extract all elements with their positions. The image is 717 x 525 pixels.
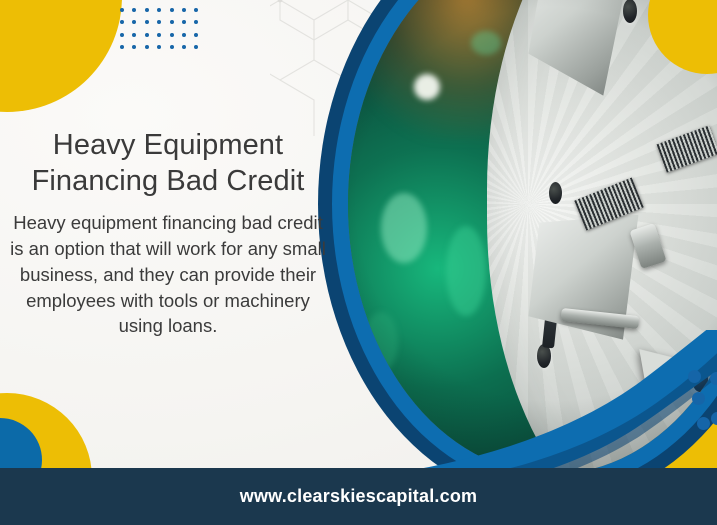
photo-medallion (318, 0, 717, 504)
edge-dot (697, 417, 710, 430)
machinery-photo (348, 0, 717, 474)
title-line-2: Financing Bad Credit (32, 165, 305, 197)
title-line-1: Heavy Equipment (53, 129, 283, 161)
edge-dot (710, 372, 717, 385)
edge-dot (711, 412, 717, 425)
edge-dot (688, 370, 701, 383)
website-url[interactable]: www.clearskiescapital.com (240, 486, 477, 507)
footer-bar: www.clearskiescapital.com (0, 468, 717, 525)
body-text: Heavy equipment financing bad credit is … (8, 210, 328, 339)
marketing-banner: Heavy Equipment Financing Bad Credit Hea… (0, 0, 717, 525)
edge-dot (692, 392, 705, 405)
page-title: Heavy Equipment Financing Bad Credit (8, 128, 328, 200)
dot-grid-decoration (120, 8, 207, 58)
headline-block: Heavy Equipment Financing Bad Credit Hea… (8, 128, 328, 339)
